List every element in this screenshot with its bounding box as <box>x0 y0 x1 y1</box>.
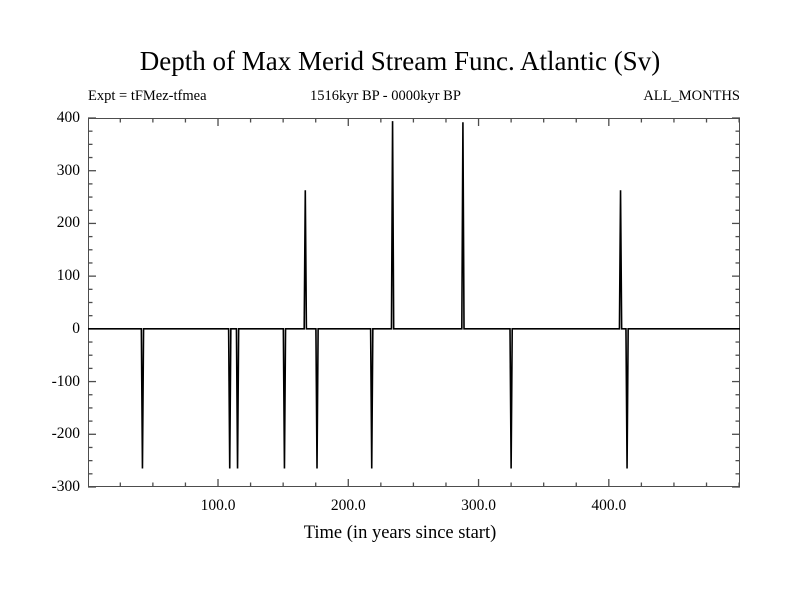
chart-page: Depth of Max Merid Stream Func. Atlantic… <box>0 0 800 600</box>
y-tick-label: 400 <box>10 110 80 126</box>
x-axis-title: Time (in years since start) <box>0 523 800 544</box>
y-tick-label: -300 <box>10 479 80 495</box>
y-tick-label: 100 <box>10 268 80 284</box>
subtitle-row: Expt = tFMez-tfmea 1516kyr BP - 0000kyr … <box>88 88 740 108</box>
y-tick-label: 300 <box>10 163 80 179</box>
x-tick-label: 400.0 <box>564 498 654 514</box>
plot-canvas <box>88 118 740 487</box>
y-tick-label: -200 <box>10 426 80 442</box>
y-tick-label: 0 <box>10 321 80 337</box>
experiment-label: Expt = tFMez-tfmea <box>88 88 207 105</box>
x-tick-label: 300.0 <box>434 498 524 514</box>
x-tick-label: 200.0 <box>303 498 393 514</box>
months-label: ALL_MONTHS <box>643 88 740 105</box>
period-label: 1516kyr BP - 0000kyr BP <box>310 88 461 105</box>
series-line <box>88 121 740 468</box>
x-tick-label: 100.0 <box>173 498 263 514</box>
axis-ticks <box>88 118 740 487</box>
y-tick-label: 200 <box>10 215 80 231</box>
data-series <box>88 121 740 468</box>
page-title: Depth of Max Merid Stream Func. Atlantic… <box>0 46 800 76</box>
y-tick-label: -100 <box>10 374 80 390</box>
